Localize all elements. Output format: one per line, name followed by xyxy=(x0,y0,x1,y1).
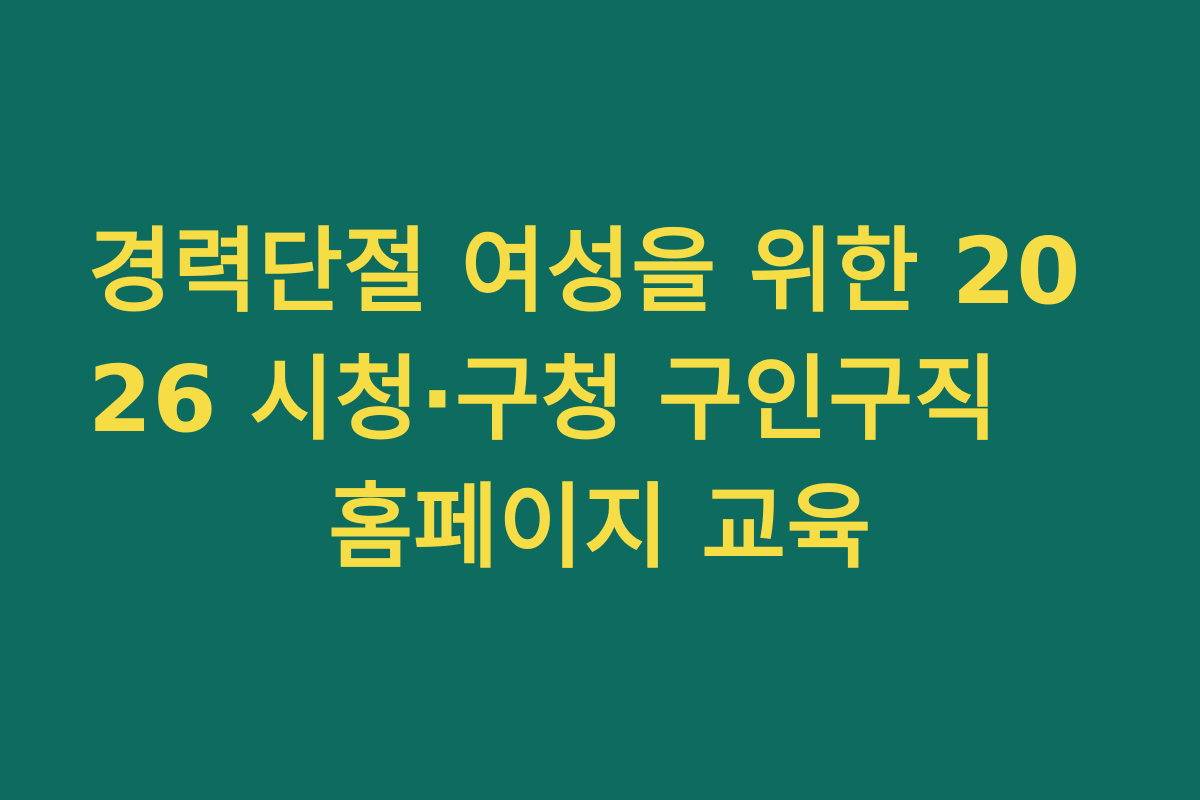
headline-line-3: 홈페이지 교육 xyxy=(72,464,1128,592)
headline-line-1: 경력단절 여성을 위한 20 xyxy=(72,208,1128,336)
text-banner: 경력단절 여성을 위한 20 26 시청·구청 구인구직 홈페이지 교육 xyxy=(0,0,1200,800)
headline-line-2: 26 시청·구청 구인구직 xyxy=(72,336,1128,464)
headline-text-block: 경력단절 여성을 위한 20 26 시청·구청 구인구직 홈페이지 교육 xyxy=(0,0,1200,800)
